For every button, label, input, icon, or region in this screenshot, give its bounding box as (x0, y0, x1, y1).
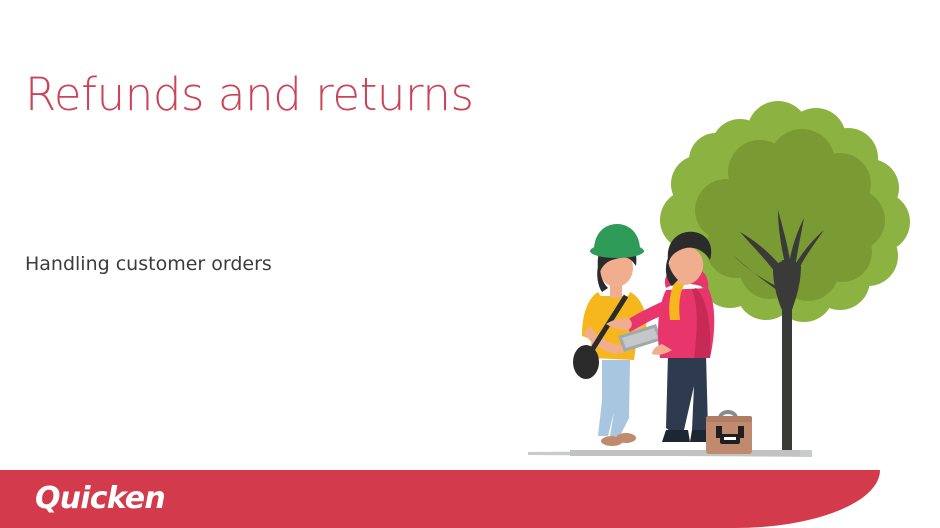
figure-woman-with-tablet (573, 224, 662, 446)
ground-shadow (528, 450, 812, 457)
slide-canvas: Refunds and returns Handling customer or… (0, 0, 940, 528)
footer-banner: Quicken (0, 470, 880, 528)
briefcase-graphic (706, 410, 752, 454)
illustration-two-people-under-tree (510, 100, 920, 470)
page-title: Refunds and returns (25, 68, 474, 121)
page-subtitle: Handling customer orders (25, 253, 272, 275)
quicken-logo: Quicken (35, 481, 165, 516)
